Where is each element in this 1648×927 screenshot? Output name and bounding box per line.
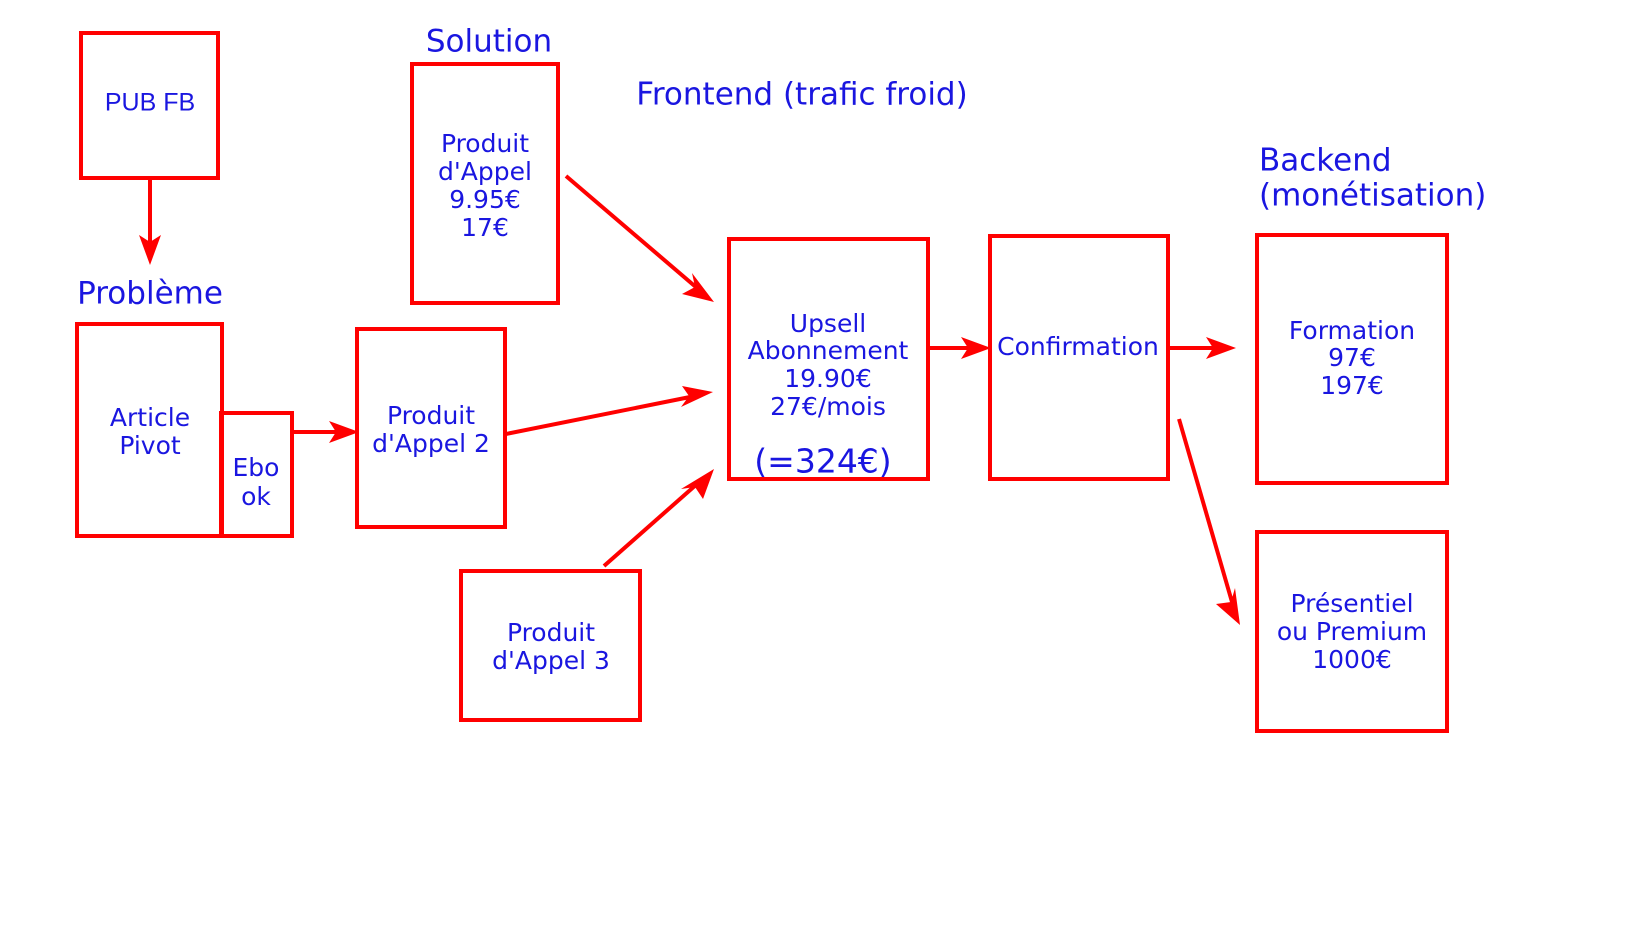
label-upsell-line-2: Abonnement <box>748 336 909 365</box>
edge-pubfb-to-probleme <box>139 180 161 265</box>
label-presentiel-line-2: ou Premium <box>1277 617 1427 646</box>
label-produit-appel-3-line-2: d'Appel 3 <box>492 646 610 675</box>
label-produit-appel-line-4: 17€ <box>461 213 509 242</box>
label-produit-appel-3-line-1: Produit <box>507 618 595 647</box>
label-upsell-total: (=324€) <box>754 442 891 481</box>
label-ebook-line-2: ok <box>241 482 271 511</box>
label-upsell-line-4: 27€/mois <box>770 392 886 421</box>
heading-frontend: Frontend (trafic froid) <box>636 77 967 113</box>
edge-upsell-to-confirmation <box>930 337 991 359</box>
edge-confirmation-to-presentiel <box>1179 419 1240 625</box>
label-produit-appel-line-2: d'Appel <box>438 157 532 186</box>
label-upsell-line-3: 19.90€ <box>784 364 871 393</box>
edge-produit-appel-3-to-upsell <box>604 469 714 566</box>
edge-ebook-to-produit-appel-2 <box>292 421 359 443</box>
diagram-canvas: Solution Frontend (trafic froid) Backend… <box>0 0 1648 927</box>
edge-produit-appel-to-upsell <box>566 176 714 302</box>
heading-probleme: Problème <box>77 276 223 312</box>
label-produit-appel-2-line-1: Produit <box>387 401 475 430</box>
heading-solution: Solution <box>426 24 552 60</box>
label-produit-appel-line-3: 9.95€ <box>449 185 521 214</box>
label-produit-appel-line-1: Produit <box>441 129 529 158</box>
label-pub-fb: PUB FB <box>105 89 195 117</box>
label-presentiel-line-1: Présentiel <box>1290 589 1413 618</box>
label-confirmation: Confirmation <box>997 332 1159 361</box>
label-formation-line-2: 97€ <box>1328 343 1376 372</box>
edge-confirmation-to-formation <box>1170 337 1236 359</box>
label-presentiel-line-3: 1000€ <box>1312 645 1392 674</box>
label-formation-line-1: Formation <box>1289 316 1415 345</box>
heading-backend-line1: Backend <box>1259 143 1392 179</box>
label-ebook-line-1: Ebo <box>233 453 280 482</box>
label-article-pivot-line-2: Pivot <box>119 431 181 460</box>
diagram-svg: Solution Frontend (trafic froid) Backend… <box>0 0 1648 927</box>
edge-produit-appel-2-to-upsell <box>506 386 713 434</box>
label-article-pivot-line-1: Article <box>110 403 190 432</box>
heading-backend-line2: (monétisation) <box>1259 178 1486 214</box>
label-produit-appel-2-line-2: d'Appel 2 <box>372 429 490 458</box>
label-upsell-line-1: Upsell <box>790 309 866 338</box>
label-formation-line-3: 197€ <box>1320 371 1384 400</box>
